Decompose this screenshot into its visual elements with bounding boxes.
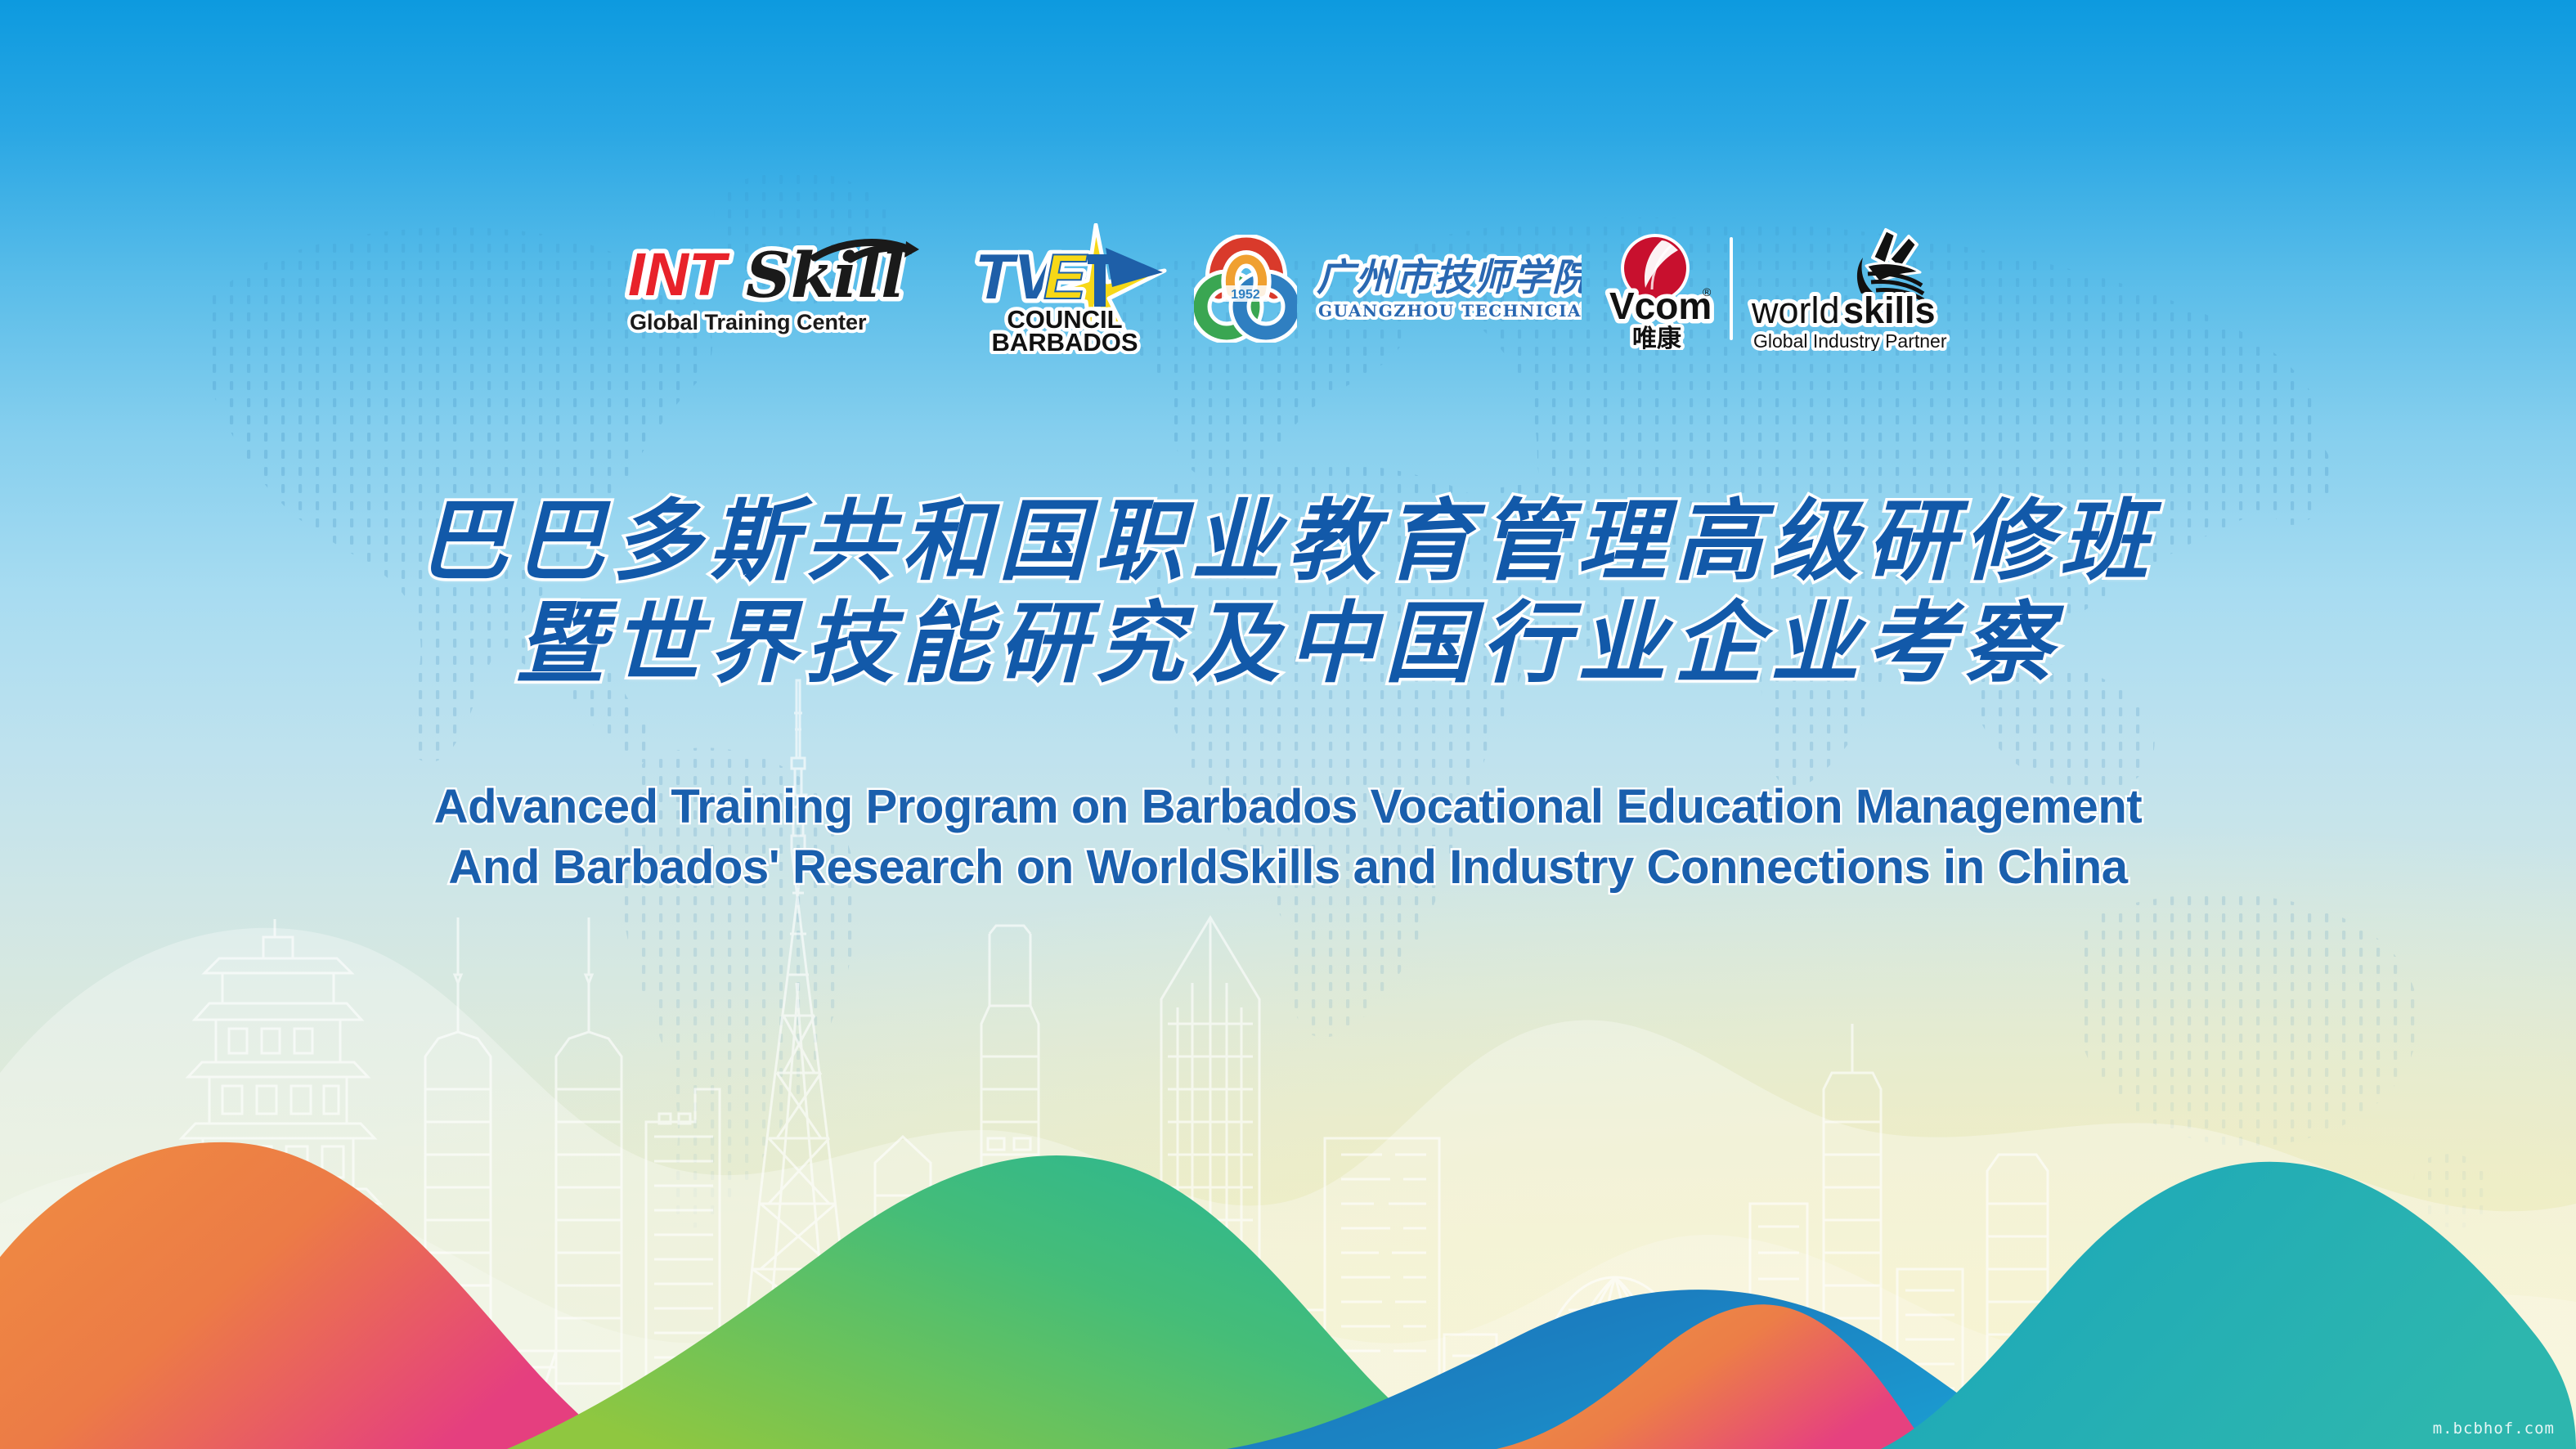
logo-guangzhou-technician-college-emblem[interactable]: 1952	[1194, 235, 1297, 343]
chinese-title-block: 巴巴多斯共和国职业教育管理高级研修班 暨世界技能研究及中国行业企业考察	[0, 491, 2576, 696]
logo-intskill[interactable]: INT INT Skill Skill Global Training Cent…	[625, 235, 944, 343]
svg-text:唯康: 唯康	[1632, 325, 1682, 350]
wave-green	[507, 1155, 1464, 1449]
logo-divider	[1727, 237, 1735, 340]
svg-text:广州市技师学院: 广州市技师学院	[1317, 255, 1582, 299]
svg-text:1952: 1952	[1231, 288, 1260, 302]
logo-vcom[interactable]: Vcom Vcom ® 唯康 唯康	[1601, 227, 1716, 350]
wave-orange-pink-left	[0, 1142, 622, 1449]
english-subtitle-line-1: Advanced Training Program on Barbados Vo…	[0, 777, 2576, 837]
chinese-title-line-1: 巴巴多斯共和国职业教育管理高级研修班	[0, 491, 2576, 593]
svg-text:Global Training Center: Global Training Center	[630, 310, 867, 334]
logo-tvet-council-barbados[interactable]: TV TV E E COUNCIL COUNCIL BARBADOS BARBA…	[968, 223, 1173, 354]
svg-text:®: ®	[1703, 285, 1712, 298]
english-subtitle-block: Advanced Training Program on Barbados Vo…	[0, 777, 2576, 898]
wave-teal-right	[1881, 1162, 2576, 1449]
partner-logo-strip: INT INT Skill Skill Global Training Cent…	[0, 236, 2576, 342]
logo-worldskills[interactable]: world world skills skills Global Industr…	[1747, 227, 1951, 351]
svg-text:Vcom: Vcom	[1609, 285, 1712, 327]
svg-text:INT: INT	[628, 240, 730, 308]
svg-text:world: world	[1751, 289, 1840, 331]
svg-text:E: E	[1043, 240, 1088, 312]
site-watermark: m.bcbhof.com	[2433, 1420, 2555, 1438]
svg-text:Global Industry Partner: Global Industry Partner	[1753, 330, 1947, 351]
svg-text:GUANGZHOU TECHNICIAN COLLEGE: GUANGZHOU TECHNICIAN COLLEGE	[1318, 301, 1582, 321]
english-subtitle-line-2: And Barbados' Research on WorldSkills an…	[0, 837, 2576, 898]
colored-wave-hills	[0, 991, 2576, 1449]
svg-text:skills: skills	[1843, 289, 1936, 331]
logo-guangzhou-technician-college-wordmark[interactable]: 广州市技师学院 广州市技师学院 GUANGZHOU TECHNICIAN COL…	[1312, 240, 1582, 338]
poster-canvas: INT INT Skill Skill Global Training Cent…	[0, 0, 2576, 1449]
chinese-title-line-2: 暨世界技能研究及中国行业企业考察	[0, 593, 2576, 695]
svg-text:BARBADOS: BARBADOS	[991, 328, 1138, 354]
